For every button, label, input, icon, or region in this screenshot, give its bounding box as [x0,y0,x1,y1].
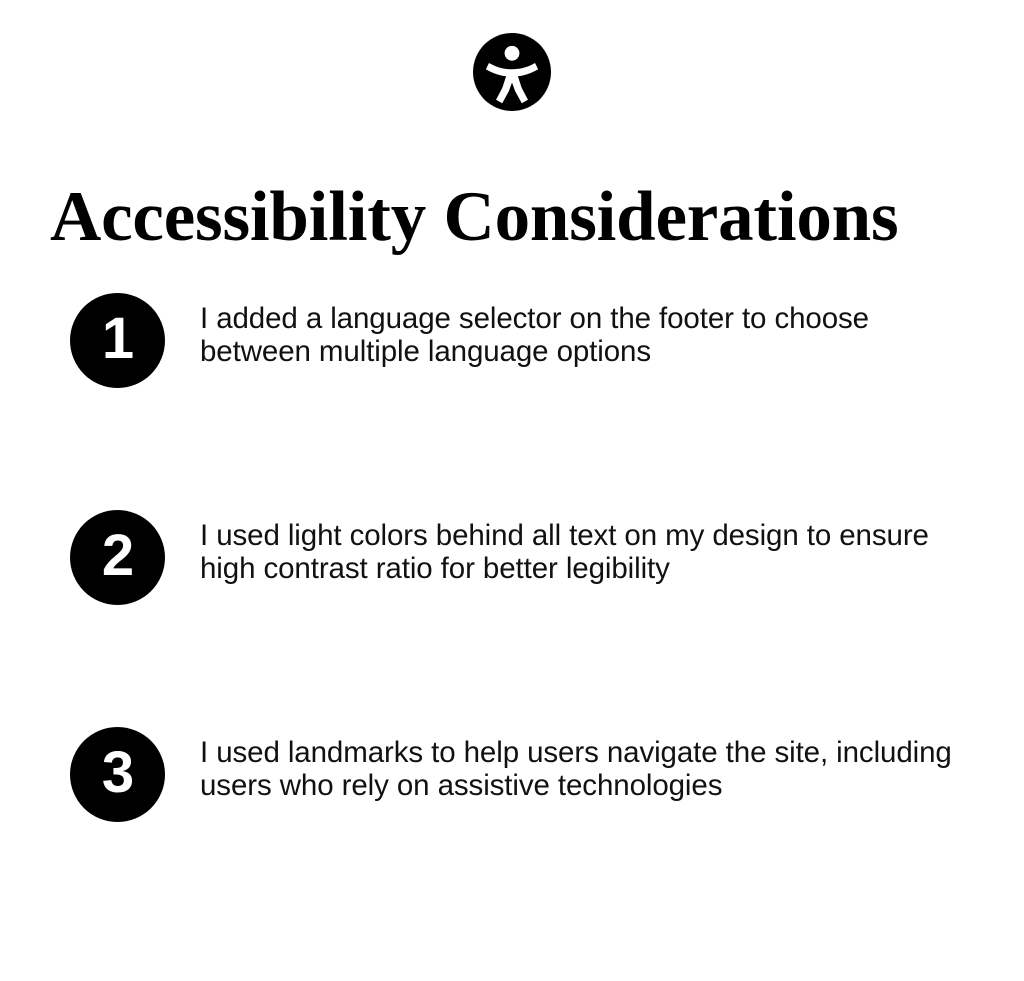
item-text-3: I used landmarks to help users navigate … [200,736,970,802]
item-number-badge-3: 3 [70,727,165,822]
item-text-line: I used light colors behind all text on m… [200,519,970,552]
list-item: 1 I added a language selector on the foo… [70,293,970,389]
list-item: 3 I used landmarks to help users navigat… [70,727,970,823]
item-text-1: I added a language selector on the foote… [200,302,970,368]
item-number-badge-2: 2 [70,510,165,605]
item-text-line: between multiple language options [200,335,970,368]
item-text-line: I added a language selector on the foote… [200,302,970,335]
item-text-line: high contrast ratio for better legibilit… [200,552,970,585]
item-text-line: I used landmarks to help users navigate … [200,736,970,769]
item-number-badge-1: 1 [70,293,165,388]
list-item: 2 I used light colors behind all text on… [70,510,970,606]
item-text-line: users who rely on assistive technologies [200,769,970,802]
considerations-list: 1 I added a language selector on the foo… [0,0,1024,981]
slide-root: Accessibility Considerations 1 I added a… [0,0,1024,981]
item-text-2: I used light colors behind all text on m… [200,519,970,585]
